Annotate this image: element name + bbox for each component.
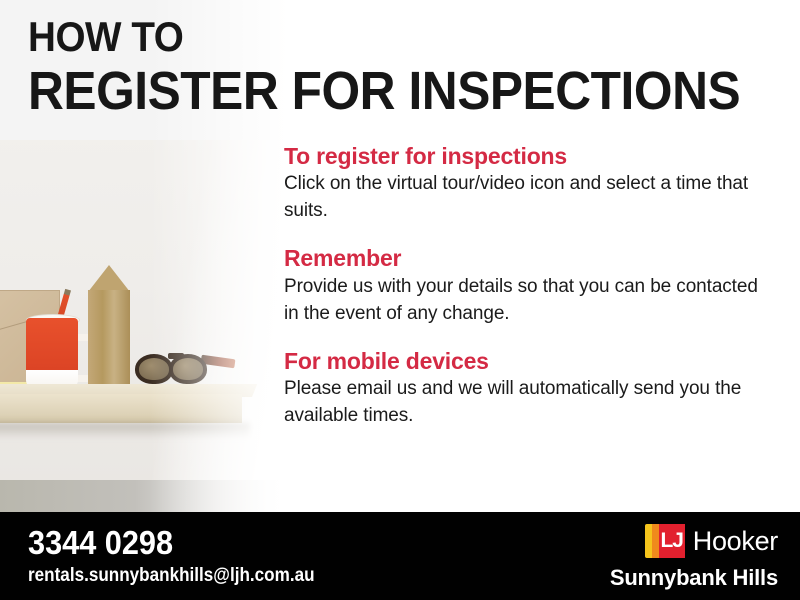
poster: HOW TO REGISTER FOR INSPECTIONS To regis… <box>0 0 800 600</box>
logo-red-tile: LJ <box>659 524 685 558</box>
instruction-body: Click on the virtual tour/video icon and… <box>284 171 776 225</box>
logo-yellow-bar <box>645 524 652 558</box>
instruction-heading: To register for inspections <box>284 143 776 169</box>
lj-hooker-logo-icon: LJ <box>645 524 685 558</box>
contact-footer: 3344 0298 rentals.sunnybankhills@ljh.com… <box>0 512 800 600</box>
wooden-house-roof <box>88 265 130 292</box>
brand-lockup: LJ Hooker Sunnybank Hills <box>610 524 778 589</box>
red-mug-prop <box>26 318 78 388</box>
headline-line-2: REGISTER FOR INSPECTIONS <box>28 64 727 118</box>
instruction-block-register: To register for inspections Click on the… <box>284 143 776 225</box>
phone-number[interactable]: 3344 0298 <box>28 526 324 559</box>
brand-name: Hooker <box>693 528 778 555</box>
brand-logo-row: LJ Hooker <box>610 524 778 558</box>
headline-line-1: HOW TO <box>28 16 727 58</box>
wooden-house-block-prop <box>88 290 130 388</box>
instruction-body: Please email us and we will automaticall… <box>284 376 776 430</box>
brand-office-name: Sunnybank Hills <box>610 567 778 589</box>
contact-details: 3344 0298 rentals.sunnybankhills@ljh.com… <box>28 526 346 585</box>
instructions-list: To register for inspections Click on the… <box>284 143 776 430</box>
instruction-heading: For mobile devices <box>284 348 776 374</box>
instruction-body: Provide us with your details so that you… <box>284 274 776 328</box>
page-title: HOW TO REGISTER FOR INSPECTIONS <box>28 16 788 118</box>
instruction-block-mobile: For mobile devices Please email us and w… <box>284 348 776 430</box>
email-address[interactable]: rentals.sunnybankhills@ljh.com.au <box>28 566 315 585</box>
logo-orange-bar <box>652 524 659 558</box>
instruction-heading: Remember <box>284 245 776 271</box>
instruction-block-remember: Remember Provide us with your details so… <box>284 245 776 327</box>
